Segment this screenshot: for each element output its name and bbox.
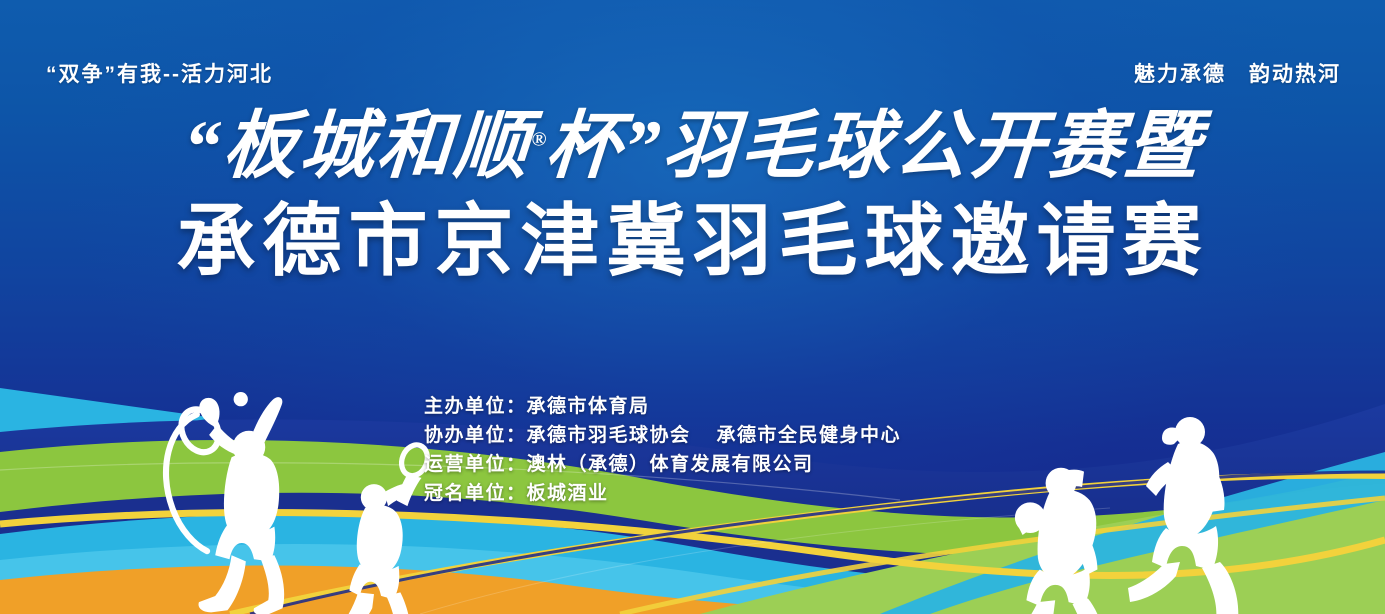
credit-line: 协办单位：承德市羽毛球协会承德市全民健身中心 (424, 421, 901, 450)
wave-artwork (0, 0, 1385, 614)
credit-label: 协办单位： (424, 425, 527, 446)
credit-value-secondary: 承德市全民健身中心 (717, 425, 902, 446)
credit-label: 冠名单位： (424, 483, 527, 504)
registered-trademark-icon: ® (531, 128, 547, 150)
credit-label: 运营单位： (424, 454, 527, 475)
event-title-line-2: 承德市京津冀羽毛球邀请赛 (0, 198, 1385, 283)
credit-line: 主办单位：承德市体育局 (424, 392, 901, 421)
credit-line: 运营单位：澳林（承德）体育发展有限公司 (424, 450, 901, 479)
credit-value: 板城酒业 (527, 483, 609, 504)
credit-value: 承德市体育局 (527, 396, 650, 417)
title-part-brand: “板城和顺 (180, 106, 534, 188)
organizer-credits: 主办单位：承德市体育局 协办单位：承德市羽毛球协会承德市全民健身中心 运营单位：… (424, 392, 901, 508)
slogan-left: “双争”有我--活力河北 (46, 58, 273, 88)
slogan-right: 魅力承德 韵动热河 (1134, 58, 1341, 88)
event-title-line-1: “板城和顺®杯”羽毛球公开赛暨 (180, 108, 1204, 186)
title-part-event: 杯”羽毛球公开赛暨 (543, 106, 1205, 188)
event-banner: “双争”有我--活力河北 魅力承德 韵动热河 “板城和顺®杯”羽毛球公开赛暨 承… (0, 0, 1385, 614)
credit-line: 冠名单位：板城酒业 (424, 479, 901, 508)
credit-value: 澳林（承德）体育发展有限公司 (527, 454, 814, 475)
credit-label: 主办单位： (424, 396, 527, 417)
headline-block: “板城和顺®杯”羽毛球公开赛暨 承德市京津冀羽毛球邀请赛 (0, 108, 1385, 284)
credit-value: 承德市羽毛球协会 (527, 425, 691, 446)
